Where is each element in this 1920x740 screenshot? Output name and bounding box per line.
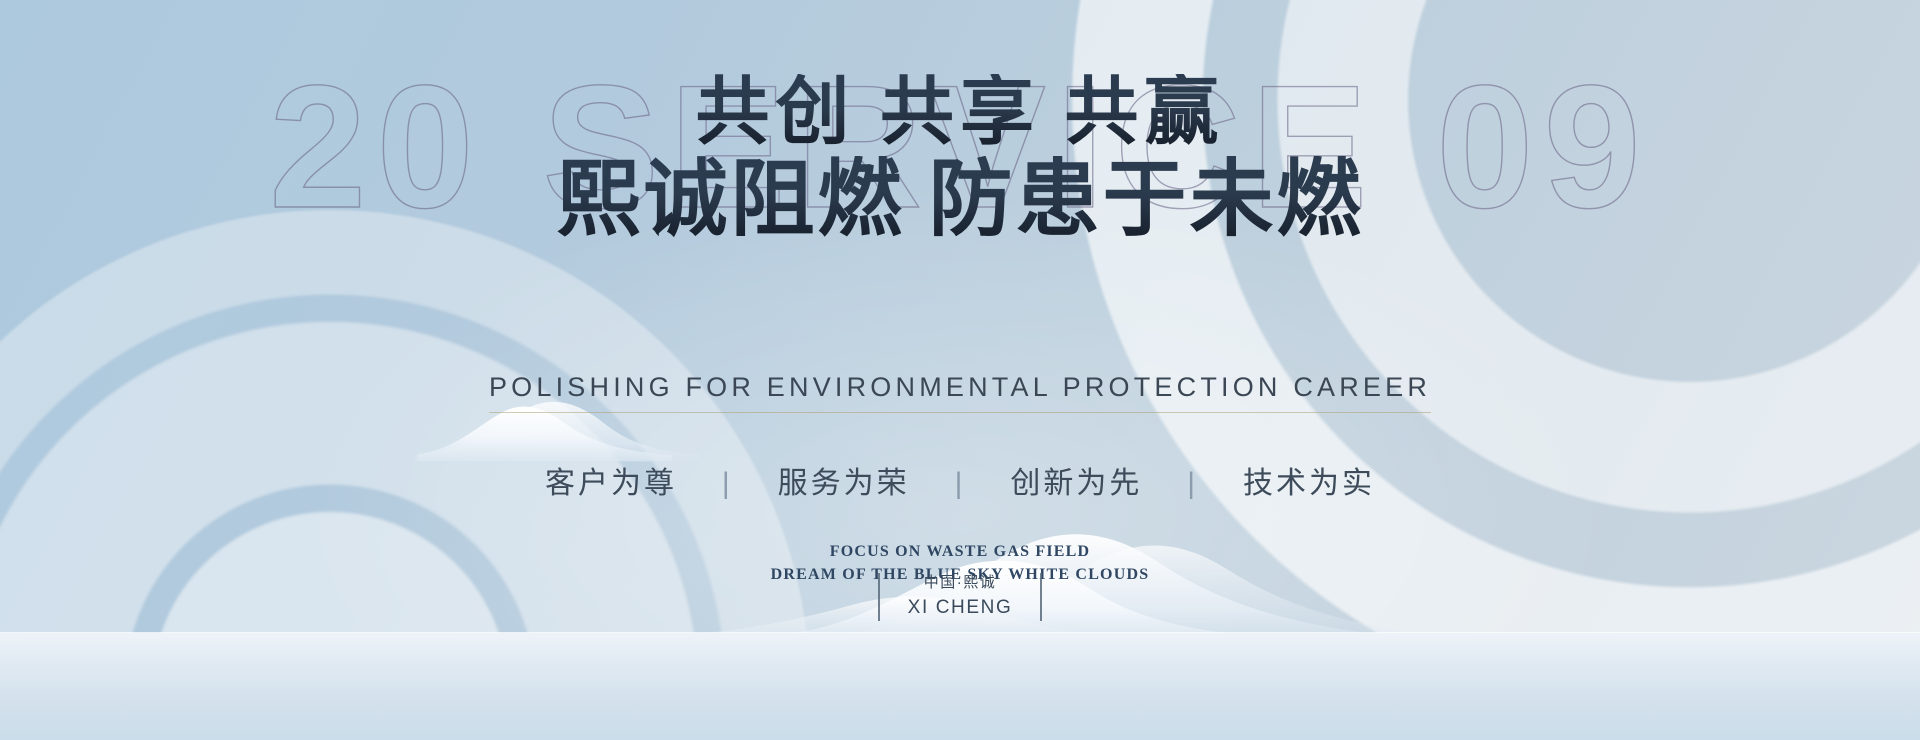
value-item-1: 客户为尊 bbox=[545, 458, 677, 502]
value-separator-1: | bbox=[688, 467, 766, 501]
slogan-block: POLISHING FOR ENVIRONMENTAL PROTECTION C… bbox=[0, 372, 1920, 413]
values-row: 客户为尊 | 服务为荣 | 创新为先 | 技术为实 bbox=[0, 458, 1920, 502]
headline-line-1: 共创 共享 共赢 bbox=[0, 74, 1920, 154]
value-item-2: 服务为荣 bbox=[778, 458, 910, 502]
brand-divider-left bbox=[878, 573, 880, 621]
value-separator-3: | bbox=[1154, 467, 1232, 501]
hero-banner: 20 SERVICE 09 共创 共享 共赢 熙诚阻燃 防患于未燃 POLISH… bbox=[0, 0, 1920, 740]
brand-divider-right bbox=[1040, 573, 1042, 621]
headline-line-2: 熙诚阻燃 防患于未燃 bbox=[0, 156, 1920, 247]
value-item-3: 创新为先 bbox=[1010, 458, 1142, 502]
value-separator-2: | bbox=[921, 467, 999, 501]
value-item-4: 技术为实 bbox=[1243, 458, 1375, 502]
headline-block: 共创 共享 共赢 熙诚阻燃 防患于未燃 bbox=[0, 74, 1920, 247]
slogan-text: POLISHING FOR ENVIRONMENTAL PROTECTION C… bbox=[489, 372, 1431, 413]
brand-name-english: XI CHENG bbox=[908, 594, 1013, 622]
brand-text: 中国·熙诚 XI CHENG bbox=[908, 572, 1013, 622]
brand-name-chinese: 中国·熙诚 bbox=[908, 572, 1013, 595]
brand-badge: 中国·熙诚 XI CHENG bbox=[0, 572, 1920, 622]
mini-slogan-line-1: FOCUS ON WASTE GAS FIELD bbox=[0, 540, 1920, 563]
